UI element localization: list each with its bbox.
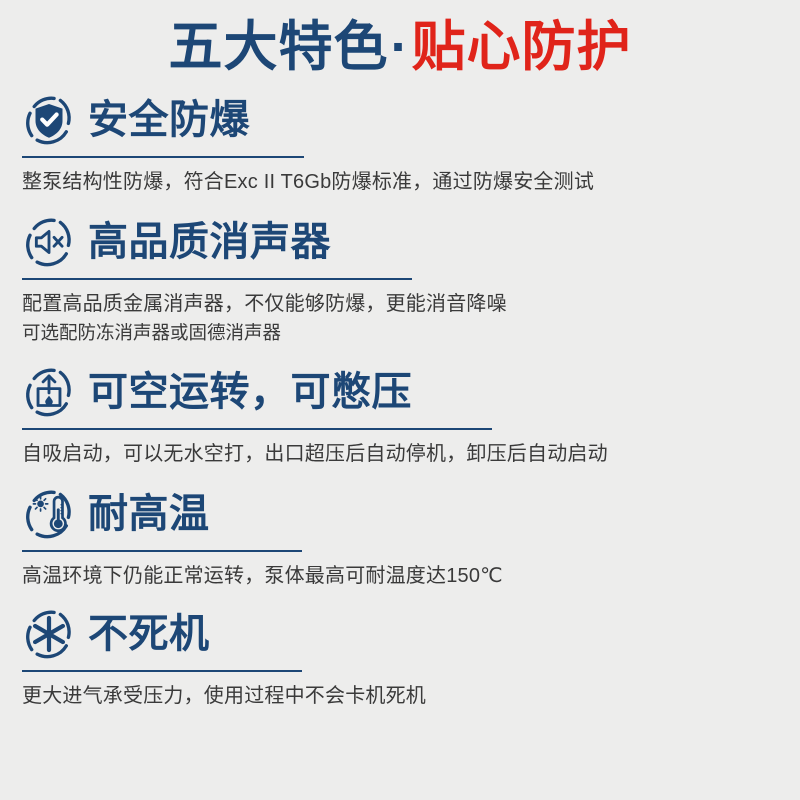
- shield-check-icon: [22, 93, 76, 147]
- page-title: 五大特色·贴心防护: [0, 0, 800, 81]
- feature-description: 更大进气承受压力，使用过程中不会卡机死机: [22, 681, 632, 717]
- feature-heading: 安全防爆: [22, 89, 778, 151]
- feature-heading: 可空运转，可憋压: [22, 361, 778, 423]
- feature-heading: 耐高温: [22, 483, 778, 545]
- feature-divider: [22, 278, 412, 280]
- page-title-main: 五大特色: [169, 17, 389, 77]
- feature-description-main: 自吸启动，可以无水空打，出口超压后自动停机，卸压后自动启动: [22, 439, 632, 469]
- feature-divider: [22, 428, 492, 430]
- feature-title: 不死机: [88, 613, 210, 655]
- feature-heading: 不死机: [22, 603, 778, 665]
- feature-description-main: 配置高品质金属消声器，不仅能够防爆，更能消音降噪: [22, 289, 632, 319]
- page-title-separator: ·: [389, 17, 412, 77]
- feature-heading: 高品质消声器: [22, 211, 778, 273]
- feature-item-no-jam: 不死机 更大进气承受压力，使用过程中不会卡机死机: [0, 603, 800, 717]
- feature-title: 安全防爆: [88, 99, 250, 141]
- asterisk-star-icon: [22, 607, 76, 661]
- feature-description-main: 高温环境下仍能正常运转，泵体最高可耐温度达150℃: [22, 561, 632, 591]
- feature-poster: 五大特色·贴心防护: [0, 0, 800, 800]
- page-title-accent: 贴心防护: [411, 17, 631, 77]
- feature-description-main: 更大进气承受压力，使用过程中不会卡机死机: [22, 681, 632, 711]
- thermometer-sun-icon: [22, 487, 76, 541]
- feature-divider: [22, 670, 302, 672]
- feature-description: 配置高品质金属消声器，不仅能够防爆，更能消音降噪 可选配防冻消声器或固德消声器: [22, 289, 632, 357]
- feature-item-dry-run: 可空运转，可憋压 自吸启动，可以无水空打，出口超压后自动停机，卸压后自动启动: [0, 361, 800, 479]
- feature-item-muffler: 高品质消声器 配置高品质金属消声器，不仅能够防爆，更能消音降噪 可选配防冻消声器…: [0, 211, 800, 357]
- feature-description-main: 整泵结构性防爆，符合Exc II T6Gb防爆标准，通过防爆安全测试: [22, 167, 632, 197]
- feature-description-sub: 可选配防冻消声器或固德消声器: [22, 319, 632, 347]
- feature-title: 耐高温: [88, 493, 210, 535]
- feature-description: 整泵结构性防爆，符合Exc II T6Gb防爆标准，通过防爆安全测试: [22, 167, 632, 207]
- speaker-mute-icon: [22, 215, 76, 269]
- feature-description: 高温环境下仍能正常运转，泵体最高可耐温度达150℃: [22, 561, 632, 597]
- feature-item-heat-resistant: 耐高温 高温环境下仍能正常运转，泵体最高可耐温度达150℃: [0, 483, 800, 597]
- feature-title: 高品质消声器: [88, 221, 331, 263]
- feature-description: 自吸启动，可以无水空打，出口超压后自动停机，卸压后自动启动: [22, 439, 632, 479]
- feature-item-safety: 安全防爆 整泵结构性防爆，符合Exc II T6Gb防爆标准，通过防爆安全测试: [0, 89, 800, 207]
- feature-title: 可空运转，可憋压: [88, 371, 412, 413]
- feature-divider: [22, 550, 302, 552]
- feature-list: 安全防爆 整泵结构性防爆，符合Exc II T6Gb防爆标准，通过防爆安全测试: [0, 81, 800, 717]
- pressure-release-icon: [22, 365, 76, 419]
- feature-divider: [22, 156, 304, 158]
